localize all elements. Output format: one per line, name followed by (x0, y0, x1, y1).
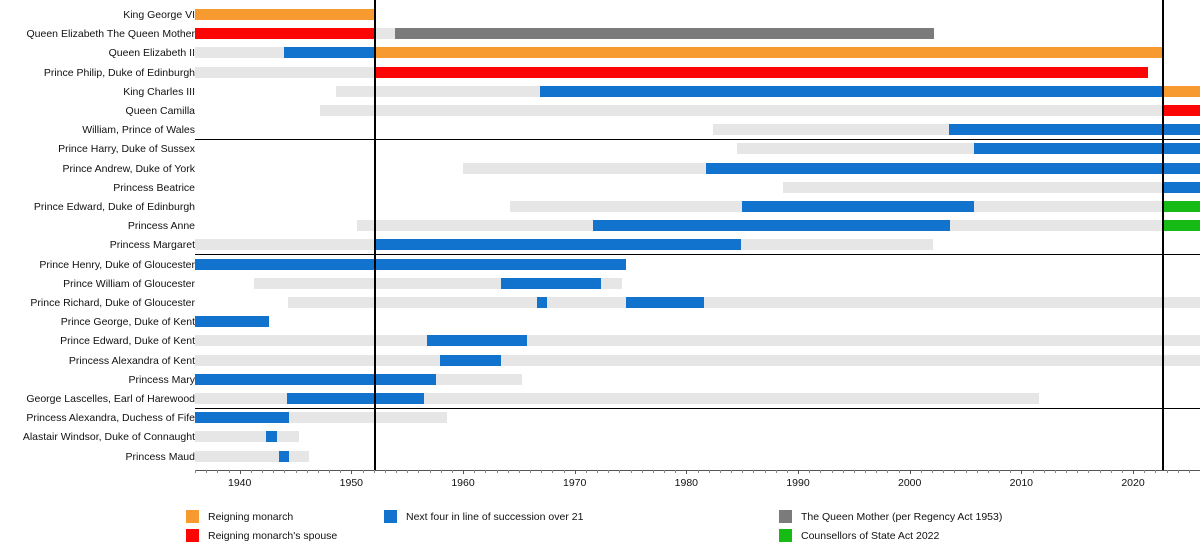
timeline-bar-green[interactable] (1163, 220, 1200, 231)
row-label: Queen Elizabeth II (0, 48, 195, 58)
axis-tick-minor (597, 470, 598, 473)
timeline-bar-blue[interactable] (195, 316, 269, 327)
axis-tick-minor (418, 470, 419, 473)
chart-legend: Reigning monarchReigning monarch's spous… (0, 508, 1200, 550)
axis-tick-major (351, 470, 352, 474)
axis-tick-minor (430, 470, 431, 473)
timeline-bar-blue[interactable] (593, 220, 950, 231)
timeline-bar-green[interactable] (1163, 201, 1200, 212)
row-label: Prince William of Gloucester (0, 279, 195, 289)
timeline-bar-grey[interactable] (436, 374, 522, 385)
timeline-bar-grey[interactable] (289, 451, 309, 462)
timeline-bar-grey[interactable] (424, 393, 1039, 404)
timeline-bar-blue[interactable] (287, 393, 424, 404)
axis-tick-minor (776, 470, 777, 473)
group-separator-line (195, 408, 1200, 409)
axis-tick-minor (217, 470, 218, 473)
axis-tick-minor (1077, 470, 1078, 473)
axis-tick-minor (552, 470, 553, 473)
x-axis: 194019501960197019801990200020102020 (0, 470, 1200, 506)
row-label: George Lascelles, Earl of Harewood (0, 394, 195, 404)
row-label: Prince Edward, Duke of Edinburgh (0, 202, 195, 212)
timeline-bar-grey[interactable] (195, 47, 284, 58)
timeline-bar-blue[interactable] (1163, 182, 1200, 193)
axis-tick-minor (452, 470, 453, 473)
axis-tick-minor (407, 470, 408, 473)
red-swatch (186, 529, 199, 542)
timeline-bar-grey[interactable] (375, 28, 395, 39)
timeline-bar-grey[interactable] (783, 182, 1163, 193)
timeline-bar-grey[interactable] (547, 297, 626, 308)
axis-tick-minor (631, 470, 632, 473)
axis-tick-minor (943, 470, 944, 473)
axis-tick-minor (608, 470, 609, 473)
row-label: King George VI (0, 10, 195, 20)
axis-tick-minor (273, 470, 274, 473)
axis-tick-major (910, 470, 911, 474)
timeline-row[interactable] (195, 201, 1200, 212)
timeline-bar-red[interactable] (1163, 105, 1200, 116)
axis-tick-minor (653, 470, 654, 473)
row-label: Princess Maud (0, 452, 195, 462)
plot-area: King George VIQueen Elizabeth The Queen … (0, 0, 1200, 470)
timeline-row[interactable] (195, 278, 1200, 289)
axis-tick-minor (899, 470, 900, 473)
axis-tick-minor (508, 470, 509, 473)
axis-tick-minor (720, 470, 721, 473)
axis-tick-minor (206, 470, 207, 473)
axis-tick-label: 2010 (1010, 477, 1033, 489)
axis-tick-minor (485, 470, 486, 473)
axis-tick-minor (876, 470, 877, 473)
row-label: Prince Edward, Duke of Kent (0, 336, 195, 346)
timeline-bar-blue[interactable] (537, 297, 547, 308)
timeline-bar-blue[interactable] (195, 412, 289, 423)
timeline-bar-grey[interactable] (950, 220, 1163, 231)
timeline-row[interactable] (195, 451, 1200, 462)
timeline-bar-blue[interactable] (195, 374, 436, 385)
marker-line-accession-1952 (374, 0, 376, 470)
axis-tick-minor (385, 470, 386, 473)
axis-tick-minor (307, 470, 308, 473)
timeline-bar-blue[interactable] (440, 355, 501, 366)
axis-tick-minor (1122, 470, 1123, 473)
timeline-bar-orange[interactable] (195, 9, 375, 20)
timeline-row[interactable] (195, 335, 1200, 346)
marker-line-accession-2022 (1162, 0, 1164, 470)
axis-tick-major (240, 470, 241, 474)
row-label: Queen Elizabeth The Queen Mother (0, 29, 195, 39)
axis-tick-minor (932, 470, 933, 473)
axis-tick-minor (820, 470, 821, 473)
timeline-bar-darkgrey[interactable] (395, 28, 934, 39)
axis-tick-major (1021, 470, 1022, 474)
axis-tick-label: 2000 (898, 477, 921, 489)
axis-tick-minor (999, 470, 1000, 473)
row-label: Prince Richard, Duke of Gloucester (0, 298, 195, 308)
row-label: Prince George, Duke of Kent (0, 317, 195, 327)
timeline-row[interactable] (195, 259, 1200, 270)
group-separator-line (195, 254, 1200, 255)
timeline-row[interactable] (195, 124, 1200, 135)
timeline-row[interactable] (195, 355, 1200, 366)
axis-tick-minor (1178, 470, 1179, 473)
timeline-row[interactable] (195, 86, 1200, 97)
row-label: Prince Philip, Duke of Edinburgh (0, 68, 195, 78)
timeline-row[interactable] (195, 182, 1200, 193)
row-label: Princess Alexandra of Kent (0, 356, 195, 366)
timeline-bar-blue[interactable] (279, 451, 289, 462)
axis-tick-minor (698, 470, 699, 473)
timeline-bar-grey[interactable] (336, 86, 540, 97)
row-label: Princess Margaret (0, 240, 195, 250)
timeline-row[interactable] (195, 431, 1200, 442)
timeline-bar-grey[interactable] (254, 278, 501, 289)
timeline-row[interactable] (195, 239, 1200, 250)
legend-label: The Queen Mother (per Regency Act 1953) (801, 511, 1002, 523)
timeline-row[interactable] (195, 105, 1200, 116)
green-swatch (779, 529, 792, 542)
axis-tick-minor (709, 470, 710, 473)
timeline-bar-grey[interactable] (601, 278, 621, 289)
axis-tick-major (463, 470, 464, 474)
axis-tick-minor (1189, 470, 1190, 473)
row-label: Princess Anne (0, 221, 195, 231)
axis-tick-minor (329, 470, 330, 473)
timeline-bar-grey[interactable] (195, 431, 266, 442)
royal-succession-timeline-chart: King George VIQueen Elizabeth The Queen … (0, 0, 1200, 550)
axis-tick-minor (519, 470, 520, 473)
axis-tick-label: 1950 (340, 477, 363, 489)
timeline-bar-grey[interactable] (741, 239, 933, 250)
timeline-bar-grey[interactable] (195, 335, 427, 346)
timeline-row[interactable] (195, 412, 1200, 423)
darkgrey-swatch (779, 510, 792, 523)
row-label: Princess Alexandra, Duchess of Fife (0, 413, 195, 423)
orange-swatch (186, 510, 199, 523)
row-label: Queen Camilla (0, 106, 195, 116)
timeline-bar-grey[interactable] (974, 201, 1163, 212)
axis-tick-minor (340, 470, 341, 473)
row-label: King Charles III (0, 87, 195, 97)
timeline-bar-blue[interactable] (540, 86, 1163, 97)
legend-item[interactable]: The Queen Mother (per Regency Act 1953) (779, 508, 1002, 525)
axis-tick-minor (374, 470, 375, 473)
axis-tick-minor (1144, 470, 1145, 473)
row-label: Princess Beatrice (0, 183, 195, 193)
blue-swatch (384, 510, 397, 523)
axis-tick-minor (441, 470, 442, 473)
legend-item[interactable]: Counsellors of State Act 2022 (779, 527, 1002, 544)
timeline-row[interactable] (195, 28, 1200, 39)
axis-tick-minor (1111, 470, 1112, 473)
timeline-row[interactable] (195, 67, 1200, 78)
timeline-bar-orange[interactable] (375, 47, 1163, 58)
timeline-bar-blue[interactable] (427, 335, 526, 346)
axis-tick-label: 1960 (451, 477, 474, 489)
timeline-bar-grey[interactable] (277, 431, 299, 442)
axis-tick-minor (474, 470, 475, 473)
axis-tick-minor (865, 470, 866, 473)
axis-tick-minor (1044, 470, 1045, 473)
legend-item[interactable]: Reigning monarch (186, 508, 337, 525)
timeline-bar-grey[interactable] (195, 393, 287, 404)
axis-tick-minor (887, 470, 888, 473)
axis-tick-label: 2020 (1121, 477, 1144, 489)
timeline-bar-grey[interactable] (288, 297, 537, 308)
timeline-bar-grey[interactable] (510, 201, 742, 212)
axis-tick-minor (765, 470, 766, 473)
axis-tick-minor (586, 470, 587, 473)
legend-column: Next four in line of succession over 21 (384, 508, 583, 527)
row-label: William, Prince of Wales (0, 125, 195, 135)
axis-tick-minor (619, 470, 620, 473)
timeline-bar-blue[interactable] (375, 239, 741, 250)
legend-column: The Queen Mother (per Regency Act 1953)C… (779, 508, 1002, 546)
axis-tick-minor (1055, 470, 1056, 473)
axis-tick-major (686, 470, 687, 474)
axis-tick-minor (530, 470, 531, 473)
timeline-row[interactable] (195, 316, 1200, 327)
row-label: Alastair Windsor, Duke of Connaught (0, 432, 195, 442)
axis-tick-minor (753, 470, 754, 473)
axis-tick-minor (541, 470, 542, 473)
timeline-row[interactable] (195, 47, 1200, 58)
axis-tick-minor (854, 470, 855, 473)
axis-tick-minor (966, 470, 967, 473)
legend-item[interactable]: Next four in line of succession over 21 (384, 508, 583, 525)
row-label: Prince Harry, Duke of Sussex (0, 144, 195, 154)
timeline-row[interactable] (195, 220, 1200, 231)
axis-tick-minor (1167, 470, 1168, 473)
axis-tick-minor (1010, 470, 1011, 473)
timeline-bar-blue[interactable] (706, 163, 1200, 174)
axis-tick-minor (954, 470, 955, 473)
axis-tick-major (798, 470, 799, 474)
axis-tick-minor (787, 470, 788, 473)
axis-tick-minor (229, 470, 230, 473)
timeline-bar-grey[interactable] (713, 124, 949, 135)
axis-tick-minor (742, 470, 743, 473)
timeline-bar-grey[interactable] (320, 105, 1163, 116)
legend-label: Reigning monarch (208, 511, 293, 523)
legend-label: Reigning monarch's spouse (208, 530, 337, 542)
timeline-row[interactable] (195, 9, 1200, 20)
timeline-row[interactable] (195, 297, 1200, 308)
timeline-bar-grey[interactable] (501, 355, 1200, 366)
timeline-bar-grey[interactable] (289, 412, 448, 423)
axis-tick-minor (1088, 470, 1089, 473)
legend-column: Reigning monarchReigning monarch's spous… (186, 508, 337, 546)
axis-tick-minor (642, 470, 643, 473)
row-label: Prince Andrew, Duke of York (0, 164, 195, 174)
axis-tick-label: 1940 (228, 477, 251, 489)
axis-tick-minor (318, 470, 319, 473)
group-separator-line (195, 139, 1200, 140)
timeline-bar-grey[interactable] (357, 220, 593, 231)
legend-item[interactable]: Reigning monarch's spouse (186, 527, 337, 544)
axis-tick-minor (1100, 470, 1101, 473)
axis-tick-label: 1990 (786, 477, 809, 489)
legend-label: Next four in line of succession over 21 (406, 511, 583, 523)
timeline-row[interactable] (195, 163, 1200, 174)
timeline-bar-blue[interactable] (501, 278, 602, 289)
axis-tick-major (1133, 470, 1134, 474)
timeline-bar-red[interactable] (195, 28, 375, 39)
axis-tick-minor (296, 470, 297, 473)
timeline-bar-orange[interactable] (1163, 86, 1200, 97)
axis-tick-minor (843, 470, 844, 473)
row-label: Princess Mary (0, 375, 195, 385)
timeline-bar-blue[interactable] (266, 431, 276, 442)
timeline-row[interactable] (195, 393, 1200, 404)
timeline-bar-grey[interactable] (195, 67, 375, 78)
timeline-bar-grey[interactable] (195, 239, 375, 250)
timeline-bar-grey[interactable] (195, 451, 279, 462)
axis-tick-minor (497, 470, 498, 473)
axis-tick-minor (363, 470, 364, 473)
axis-tick-minor (664, 470, 665, 473)
timeline-bar-blue[interactable] (626, 297, 704, 308)
axis-tick-label: 1970 (563, 477, 586, 489)
axis-tick-minor (251, 470, 252, 473)
axis-tick-minor (396, 470, 397, 473)
axis-tick-minor (977, 470, 978, 473)
axis-tick-major (575, 470, 576, 474)
axis-tick-minor (1066, 470, 1067, 473)
axis-tick-minor (809, 470, 810, 473)
timeline-bar-grey[interactable] (195, 355, 440, 366)
axis-tick-minor (988, 470, 989, 473)
axis-tick-label: 1980 (675, 477, 698, 489)
axis-tick-minor (262, 470, 263, 473)
timeline-bar-blue[interactable] (974, 143, 1200, 154)
timeline-bar-red[interactable] (375, 67, 1148, 78)
axis-tick-minor (731, 470, 732, 473)
axis-tick-minor (195, 470, 196, 473)
timeline-bar-blue[interactable] (284, 47, 374, 58)
axis-tick-minor (921, 470, 922, 473)
axis-tick-minor (675, 470, 676, 473)
axis-tick-minor (1033, 470, 1034, 473)
timeline-row[interactable] (195, 374, 1200, 385)
legend-label: Counsellors of State Act 2022 (801, 530, 939, 542)
timeline-bar-blue[interactable] (742, 201, 974, 212)
timeline-bar-grey[interactable] (737, 143, 975, 154)
row-label: Prince Henry, Duke of Gloucester (0, 260, 195, 270)
axis-tick-minor (564, 470, 565, 473)
timeline-row[interactable] (195, 143, 1200, 154)
axis-tick-minor (832, 470, 833, 473)
timeline-bar-blue[interactable] (195, 259, 626, 270)
axis-tick-minor (284, 470, 285, 473)
timeline-bar-grey[interactable] (463, 163, 706, 174)
timeline-bar-grey[interactable] (527, 335, 1200, 346)
timeline-bar-grey[interactable] (704, 297, 1200, 308)
axis-tick-minor (1155, 470, 1156, 473)
